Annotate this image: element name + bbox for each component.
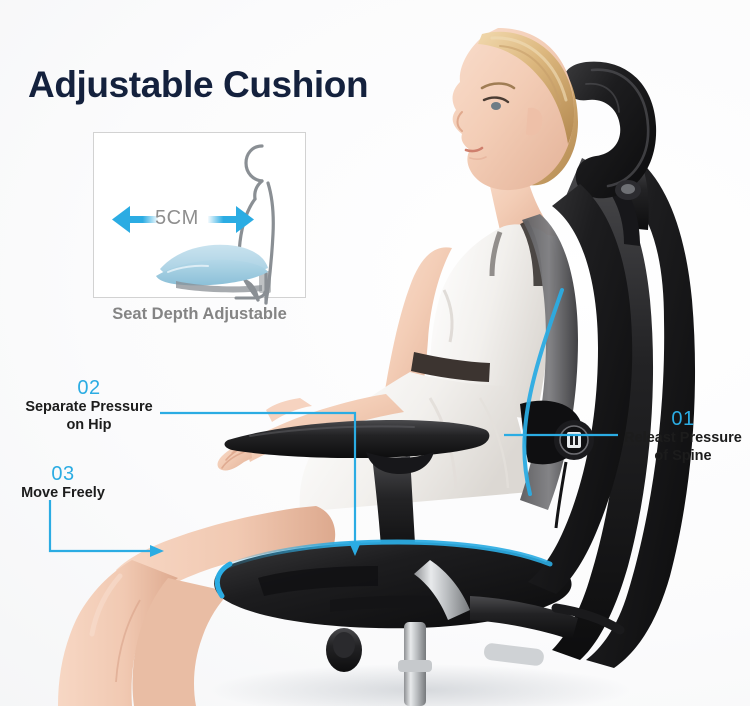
callout-01: 01 Releast Pressure of Spine (621, 409, 745, 465)
callout-02-number: 02 (14, 378, 164, 399)
callout-03-line1: Move Freely (8, 485, 118, 503)
callout-02: 02 Separate Pressure on Hip (14, 378, 164, 434)
callout-02-line1: Separate Pressure (14, 399, 164, 417)
dimension-label: 5CM (155, 207, 199, 230)
product-infographic: 5CM Seat Depth Adjustable 01 Releast Pre… (0, 0, 750, 706)
callout-03-number: 03 (8, 464, 118, 485)
callout-02-line2: on Hip (14, 417, 164, 435)
callout-01-line1: Releast Pressure (621, 430, 745, 448)
seat-depth-caption: Seat Depth Adjustable (93, 305, 306, 324)
callout-03: 03 Move Freely (8, 464, 118, 503)
callout-01-line2: of Spine (621, 448, 745, 466)
page-title: Adjustable Cushion (28, 64, 368, 106)
callout-01-number: 01 (621, 409, 745, 430)
